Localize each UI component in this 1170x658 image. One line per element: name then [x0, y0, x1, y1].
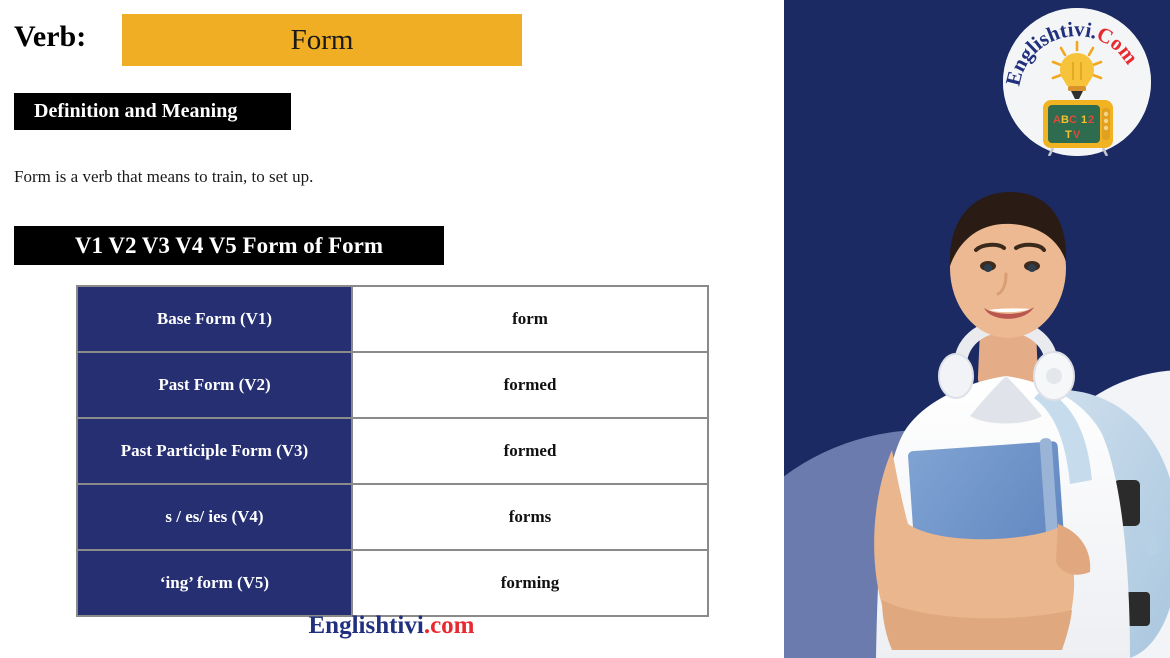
table-cell-value: form — [352, 286, 708, 352]
verb-forms-heading-bar: V1 V2 V3 V4 V5 Form of Form — [14, 226, 444, 265]
student-with-notebook-photo — [830, 180, 1170, 658]
verb-title-row: Verb: Form — [14, 14, 534, 66]
verb-forms-heading-label: V1 V2 V3 V4 V5 Form of Form — [75, 233, 383, 259]
poster-canvas: Englishtivi.Com — [0, 0, 1170, 658]
definition-heading-bar: Definition and Meaning — [14, 93, 291, 130]
table-cell-label: Base Form (V1) — [77, 286, 352, 352]
table-row: ‘ing’ form (V5) forming — [77, 550, 708, 616]
verb-forms-table: Base Form (V1) form Past Form (V2) forme… — [76, 285, 709, 617]
footer-brand[interactable]: Englishtivi.com — [76, 612, 707, 640]
verb-value-bar: Form — [122, 14, 522, 66]
svg-text:A: A — [1053, 114, 1061, 126]
svg-text:C: C — [1069, 114, 1077, 126]
table-cell-label: s / es/ ies (V4) — [77, 484, 352, 550]
table-row: Base Form (V1) form — [77, 286, 708, 352]
verb-forms-table-body: Base Form (V1) form Past Form (V2) forme… — [77, 286, 708, 616]
table-row: s / es/ ies (V4) forms — [77, 484, 708, 550]
table-row: Past Participle Form (V3) formed — [77, 418, 708, 484]
svg-text:2: 2 — [1088, 114, 1094, 126]
head-shape — [950, 192, 1066, 338]
footer-brand-tld: .com — [424, 612, 475, 639]
definition-paragraph: Form is a verb that means to train, to s… — [14, 165, 634, 189]
table-cell-value: formed — [352, 418, 708, 484]
verb-label: Verb: — [14, 20, 86, 54]
footer-brand-main: Englishtivi — [309, 612, 424, 639]
svg-text:B: B — [1061, 114, 1069, 126]
table-cell-label: ‘ing’ form (V5) — [77, 550, 352, 616]
verb-value-text: Form — [122, 14, 522, 66]
svg-text:1: 1 — [1081, 114, 1087, 126]
svg-text:V: V — [1073, 129, 1081, 141]
left-content-pane: Verb: Form Definition and Meaning Form i… — [0, 0, 784, 658]
englishtivi-logo-badge[interactable]: Englishtivi.Com — [1003, 8, 1151, 156]
table-cell-label: Past Form (V2) — [77, 352, 352, 418]
table-cell-value: formed — [352, 352, 708, 418]
television-icon: A B C 1 2 T V — [1043, 100, 1113, 156]
table-cell-value: forming — [352, 550, 708, 616]
svg-text:T: T — [1065, 129, 1072, 141]
table-row: Past Form (V2) formed — [77, 352, 708, 418]
table-cell-label: Past Participle Form (V3) — [77, 418, 352, 484]
table-cell-value: forms — [352, 484, 708, 550]
definition-heading-label: Definition and Meaning — [34, 100, 237, 123]
